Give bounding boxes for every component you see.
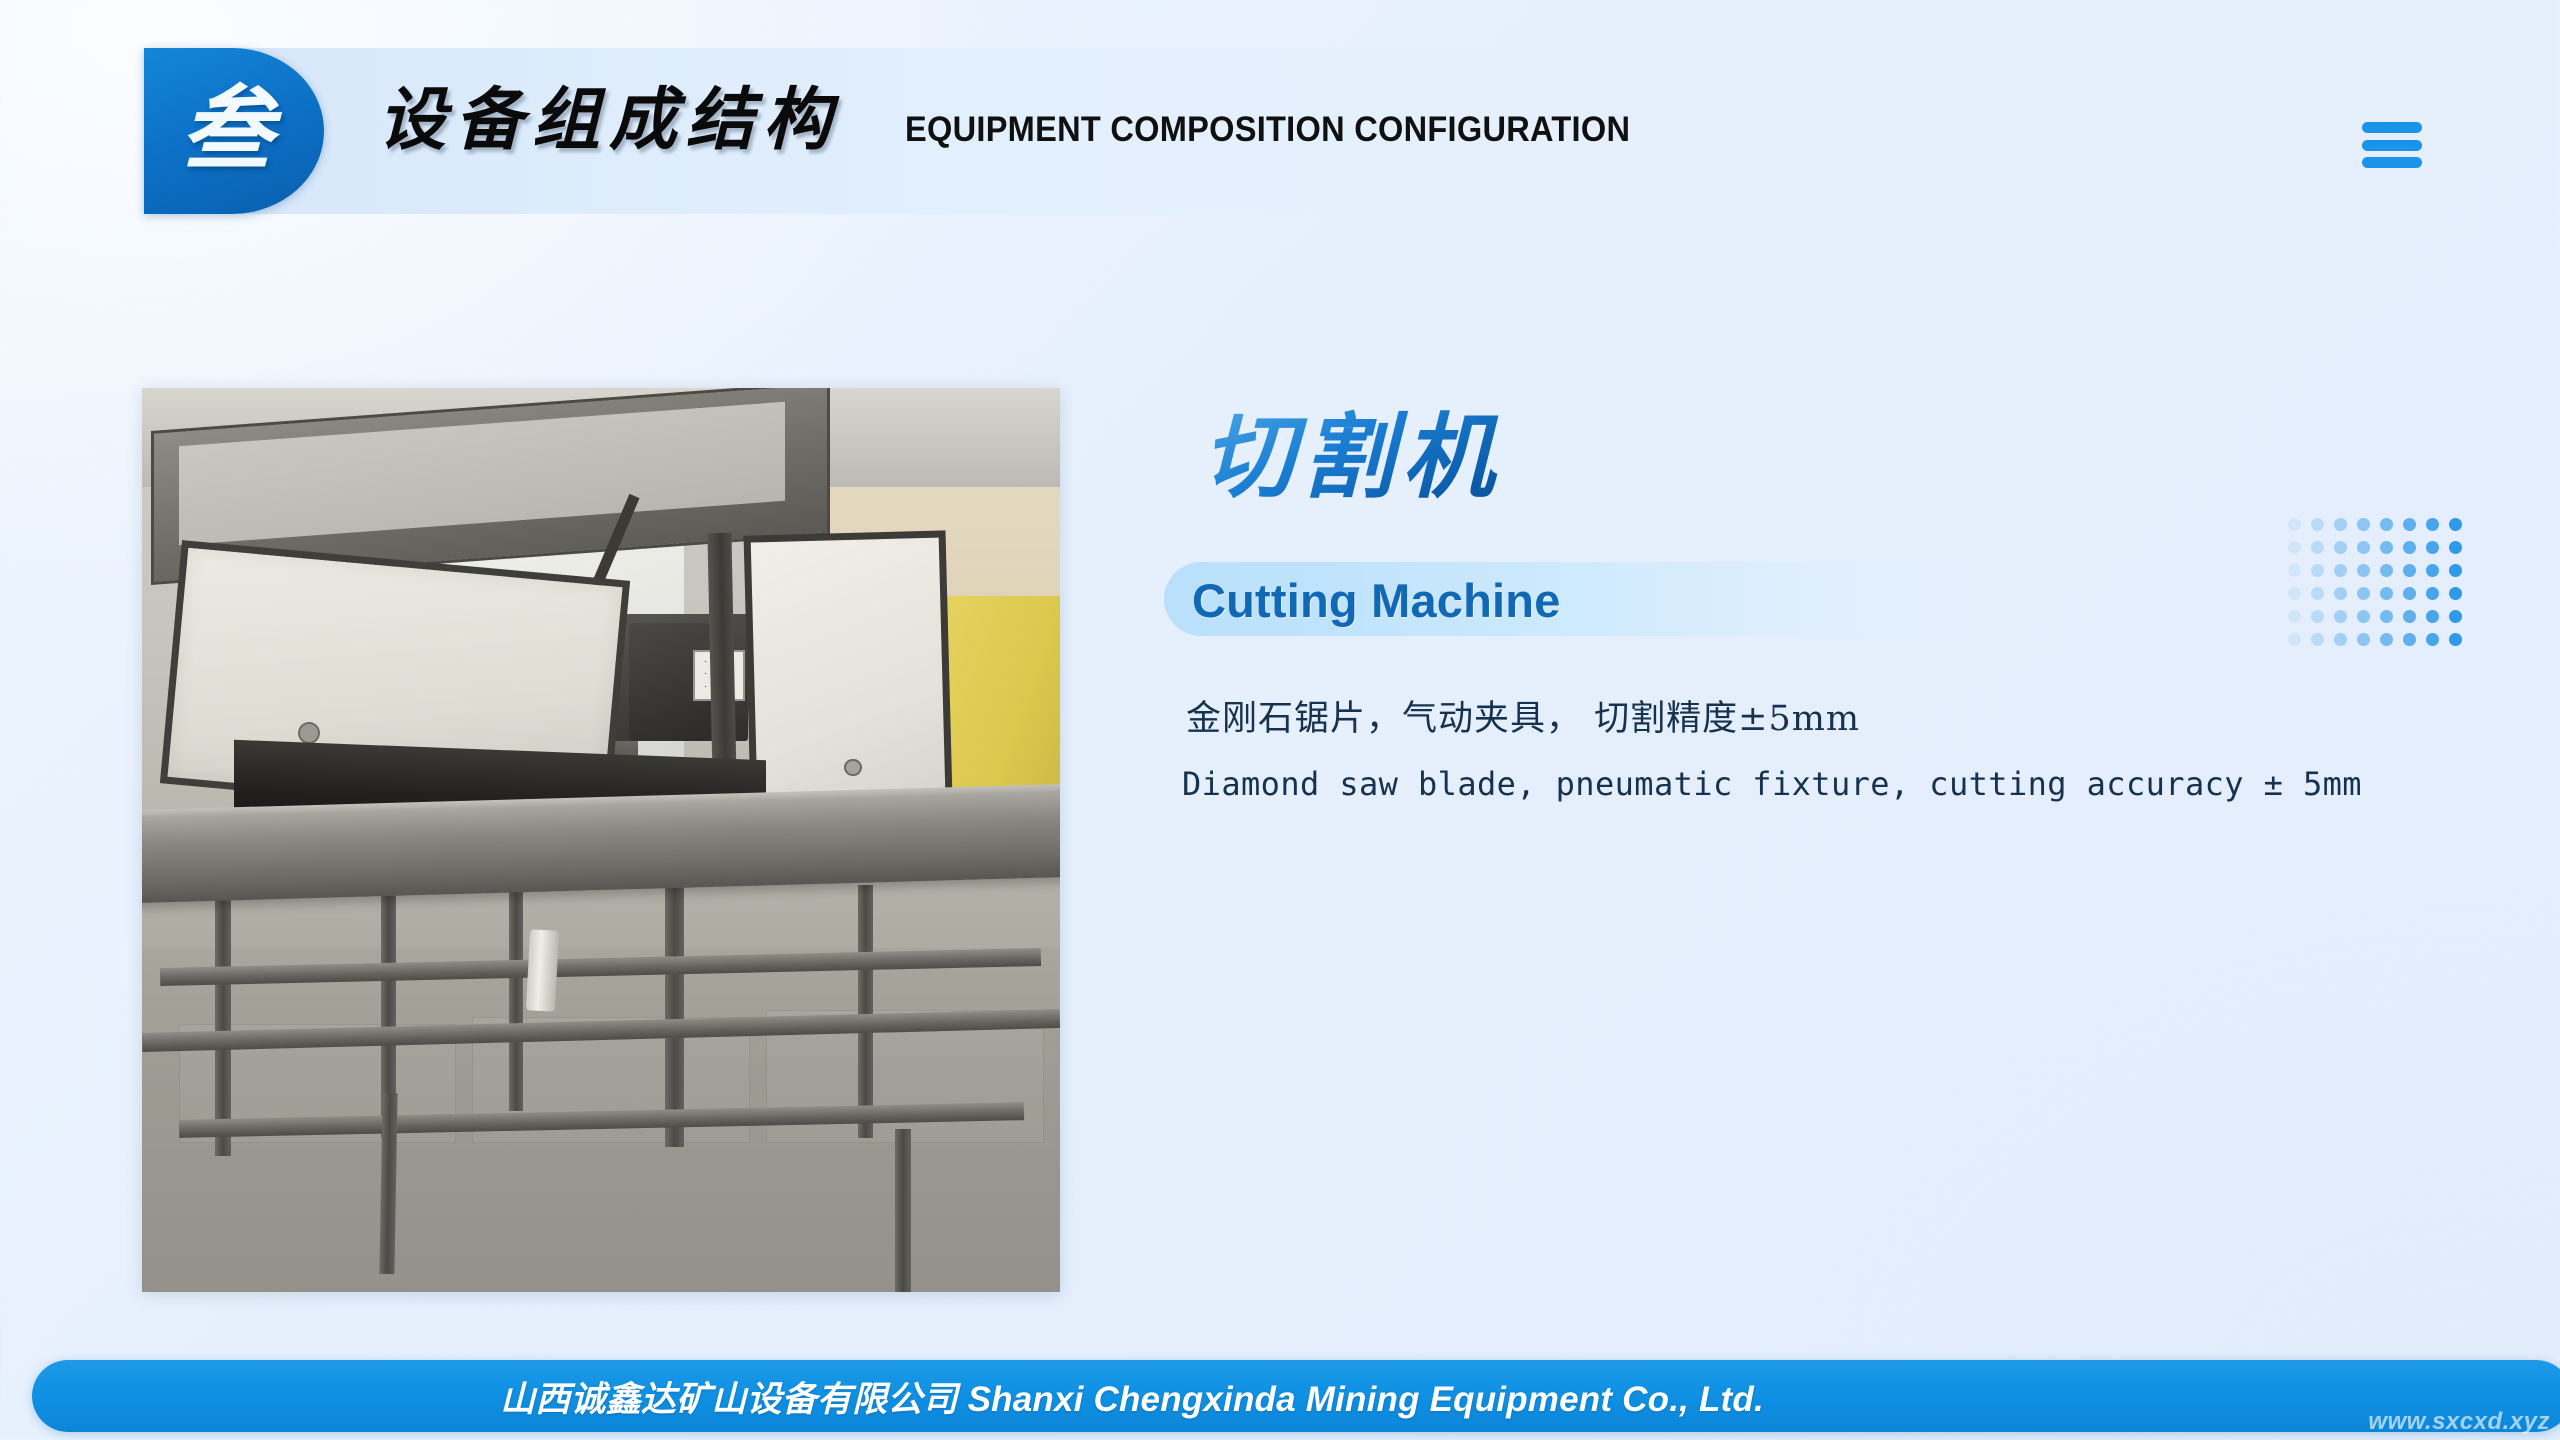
section-number-text: 叁	[144, 83, 310, 175]
dot	[2380, 564, 2393, 577]
dot	[2403, 541, 2416, 554]
dot	[2449, 633, 2462, 646]
hamburger-menu-icon[interactable]	[2362, 122, 2422, 168]
equipment-photo	[142, 388, 1060, 1292]
dot	[2380, 541, 2393, 554]
photo-frame-leg	[665, 858, 683, 1147]
dot	[2334, 587, 2347, 600]
dot	[2380, 587, 2393, 600]
dot	[2288, 541, 2301, 554]
dot	[2403, 610, 2416, 623]
equipment-photo-image	[142, 388, 1060, 1292]
photo-frame-leg	[895, 1129, 912, 1292]
dot	[2380, 633, 2393, 646]
dot	[2288, 564, 2301, 577]
dot	[2357, 541, 2370, 554]
dot	[2334, 610, 2347, 623]
dot	[2426, 541, 2439, 554]
dot	[2334, 541, 2347, 554]
photo-control-dot-2	[705, 673, 706, 674]
photo-door-knob	[844, 759, 862, 777]
photo-pneumatic-cylinder	[525, 930, 559, 1013]
photo-frame-leg	[379, 1093, 397, 1274]
dot	[2288, 610, 2301, 623]
dot	[2426, 518, 2439, 531]
product-title-cn: 切割机	[1202, 405, 1502, 511]
dot	[2357, 610, 2370, 623]
watermark-url: www.sxcxd.xyz	[2368, 1408, 2550, 1436]
dot-grid-decoration	[2288, 518, 2467, 651]
dot	[2449, 564, 2462, 577]
dot	[2311, 518, 2324, 531]
dot	[2403, 564, 2416, 577]
product-description-en: Diamond saw blade, pneumatic fixture, cu…	[1182, 765, 2362, 803]
photo-frame-leg	[215, 858, 231, 1156]
section-number-badge: 叁	[144, 48, 324, 214]
dot	[2357, 587, 2370, 600]
dot	[2357, 518, 2370, 531]
photo-frame-leg	[509, 858, 523, 1111]
hamburger-bar-1	[2362, 122, 2422, 133]
dot	[2311, 633, 2324, 646]
dot	[2426, 633, 2439, 646]
dot	[2311, 587, 2324, 600]
dot	[2357, 564, 2370, 577]
dot	[2449, 541, 2462, 554]
dot	[2403, 587, 2416, 600]
dot	[2288, 518, 2301, 531]
dot	[2334, 633, 2347, 646]
dot	[2311, 564, 2324, 577]
photo-control-dot-1	[705, 661, 706, 662]
dot	[2311, 541, 2324, 554]
photo-frame-leg	[858, 885, 873, 1138]
hamburger-bar-3	[2362, 157, 2422, 168]
dot	[2311, 610, 2324, 623]
dot	[2288, 633, 2301, 646]
dot	[2426, 587, 2439, 600]
dot	[2380, 518, 2393, 531]
dot	[2449, 610, 2462, 623]
product-title-en: Cutting Machine	[1192, 573, 1561, 628]
dot	[2380, 610, 2393, 623]
dot	[2449, 518, 2462, 531]
slide-root: 叁 设备组成结构 EQUIPMENT COMPOSITION CONFIGURA…	[0, 0, 2560, 1440]
dot	[2449, 587, 2462, 600]
dot	[2403, 518, 2416, 531]
page-title-en: EQUIPMENT COMPOSITION CONFIGURATION	[905, 110, 1630, 150]
dot	[2357, 633, 2370, 646]
dot	[2288, 587, 2301, 600]
dot	[2403, 633, 2416, 646]
page-title-cn: 设备组成结构	[378, 78, 840, 163]
footer-company-name: 山西诚鑫达矿山设备有限公司 Shanxi Chengxinda Mining E…	[32, 1360, 2232, 1432]
photo-control-dot-3	[705, 686, 706, 687]
dot	[2334, 518, 2347, 531]
dot	[2426, 610, 2439, 623]
product-description-cn: 金刚石锯片，气动夹具， 切割精度±5mm	[1186, 690, 1860, 741]
dot	[2426, 564, 2439, 577]
hamburger-bar-2	[2362, 140, 2422, 151]
dot	[2334, 564, 2347, 577]
